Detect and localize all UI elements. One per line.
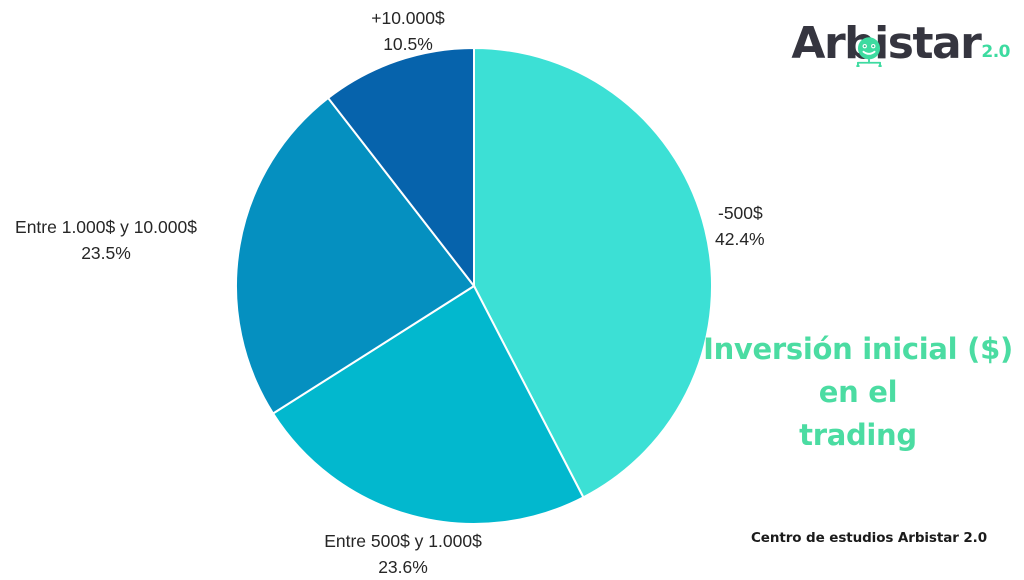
slice-label-value: 23.5% — [0, 240, 212, 266]
footer-credit: Centro de estudios Arbistar 2.0 — [724, 530, 1014, 546]
slice-label-1000-10000: Entre 1.000$ y 10.000$ 23.5% — [0, 214, 212, 266]
slide-canvas: Arbistar — [0, 0, 1024, 576]
slice-label-value: 23.6% — [283, 554, 523, 580]
pie-chart — [236, 48, 712, 524]
slice-label-500-1000: Entre 500$ y 1.000$ 23.6% — [283, 528, 523, 580]
slice-label-under-500: -500$ 42.4% — [715, 200, 915, 252]
chart-title-line-1: Inversión inicial ($) — [692, 328, 1024, 371]
chart-title-line-2: en el — [692, 371, 1024, 414]
logo-version: 2.0 — [981, 42, 1010, 62]
slice-label-value: 42.4% — [715, 226, 915, 252]
slice-label-plus-10000: +10.000$ 10.5% — [278, 5, 538, 57]
logo-wordmark: Arbistar — [791, 22, 980, 66]
arbistar-logo: Arbistar — [791, 14, 1010, 66]
slice-label-name: -500$ — [718, 200, 915, 226]
slice-label-name: +10.000$ — [278, 5, 538, 31]
chart-title: Inversión inicial ($) en el trading — [692, 328, 1024, 457]
robot-head-icon — [852, 31, 886, 65]
slice-label-name: Entre 500$ y 1.000$ — [283, 528, 523, 554]
slice-label-value: 10.5% — [278, 31, 538, 57]
slice-label-name: Entre 1.000$ y 10.000$ — [0, 214, 212, 240]
chart-title-line-3: trading — [692, 414, 1024, 457]
